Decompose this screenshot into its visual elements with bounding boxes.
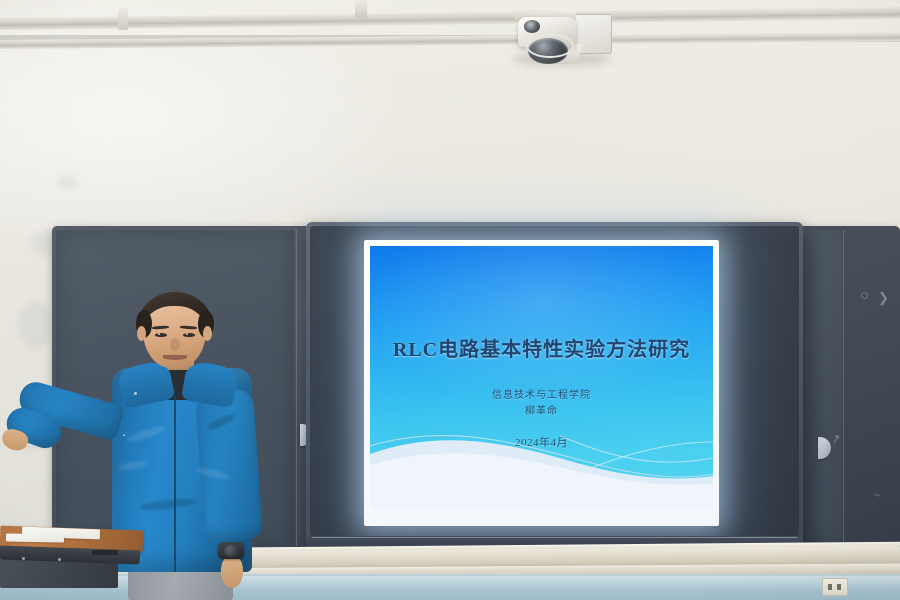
rail-bracket	[118, 8, 128, 30]
jacket-sleeve-right	[195, 388, 263, 542]
rail-bracket	[355, 0, 367, 18]
eye-highlight	[186, 333, 188, 335]
interactive-display[interactable]: RLC电路基本特性实验方法研究 信息技术与工程学院 柳革命 2024年4月	[306, 222, 803, 562]
outlet-slot	[828, 584, 832, 590]
blackboard-seam	[843, 230, 844, 546]
ear-left	[137, 326, 146, 341]
jacket-logo	[134, 392, 137, 395]
nose	[170, 338, 180, 351]
camera-dome-ring	[526, 34, 574, 58]
slide-wave-decoration	[370, 246, 713, 509]
bezel-highlight	[312, 537, 797, 538]
jacket-brand-mark: ▲	[122, 432, 126, 437]
outlet-slot	[837, 584, 841, 590]
wall-power-outlet[interactable]	[822, 578, 848, 596]
wall-smudge	[58, 175, 78, 189]
podium-screw	[22, 557, 25, 560]
wristwatch	[218, 542, 244, 559]
watch-face	[224, 545, 238, 557]
ear-right	[203, 326, 212, 341]
camera-lens	[524, 20, 540, 33]
eye-right	[183, 333, 195, 337]
wall-smudge	[18, 300, 52, 350]
hand-right	[221, 556, 243, 588]
podium-cable-slot	[92, 550, 118, 555]
podium-papers[interactable]	[6, 533, 64, 542]
powerpoint-slide[interactable]: RLC电路基本特性实验方法研究 信息技术与工程学院 柳革命 2024年4月	[370, 246, 713, 509]
podium-screw	[58, 558, 61, 561]
eye-highlight	[158, 333, 160, 335]
blackboard-seam	[296, 230, 297, 546]
eye-left	[155, 333, 167, 337]
mouth	[163, 355, 187, 360]
classroom-photo: ○ ❯ ↗ ~ RLC电路基本特性实验方法研究 信息技术与工程学院 柳革命 20…	[0, 0, 900, 600]
presentation-screen[interactable]: RLC电路基本特性实验方法研究 信息技术与工程学院 柳革命 2024年4月	[364, 240, 719, 526]
jacket-zipper	[174, 396, 176, 572]
